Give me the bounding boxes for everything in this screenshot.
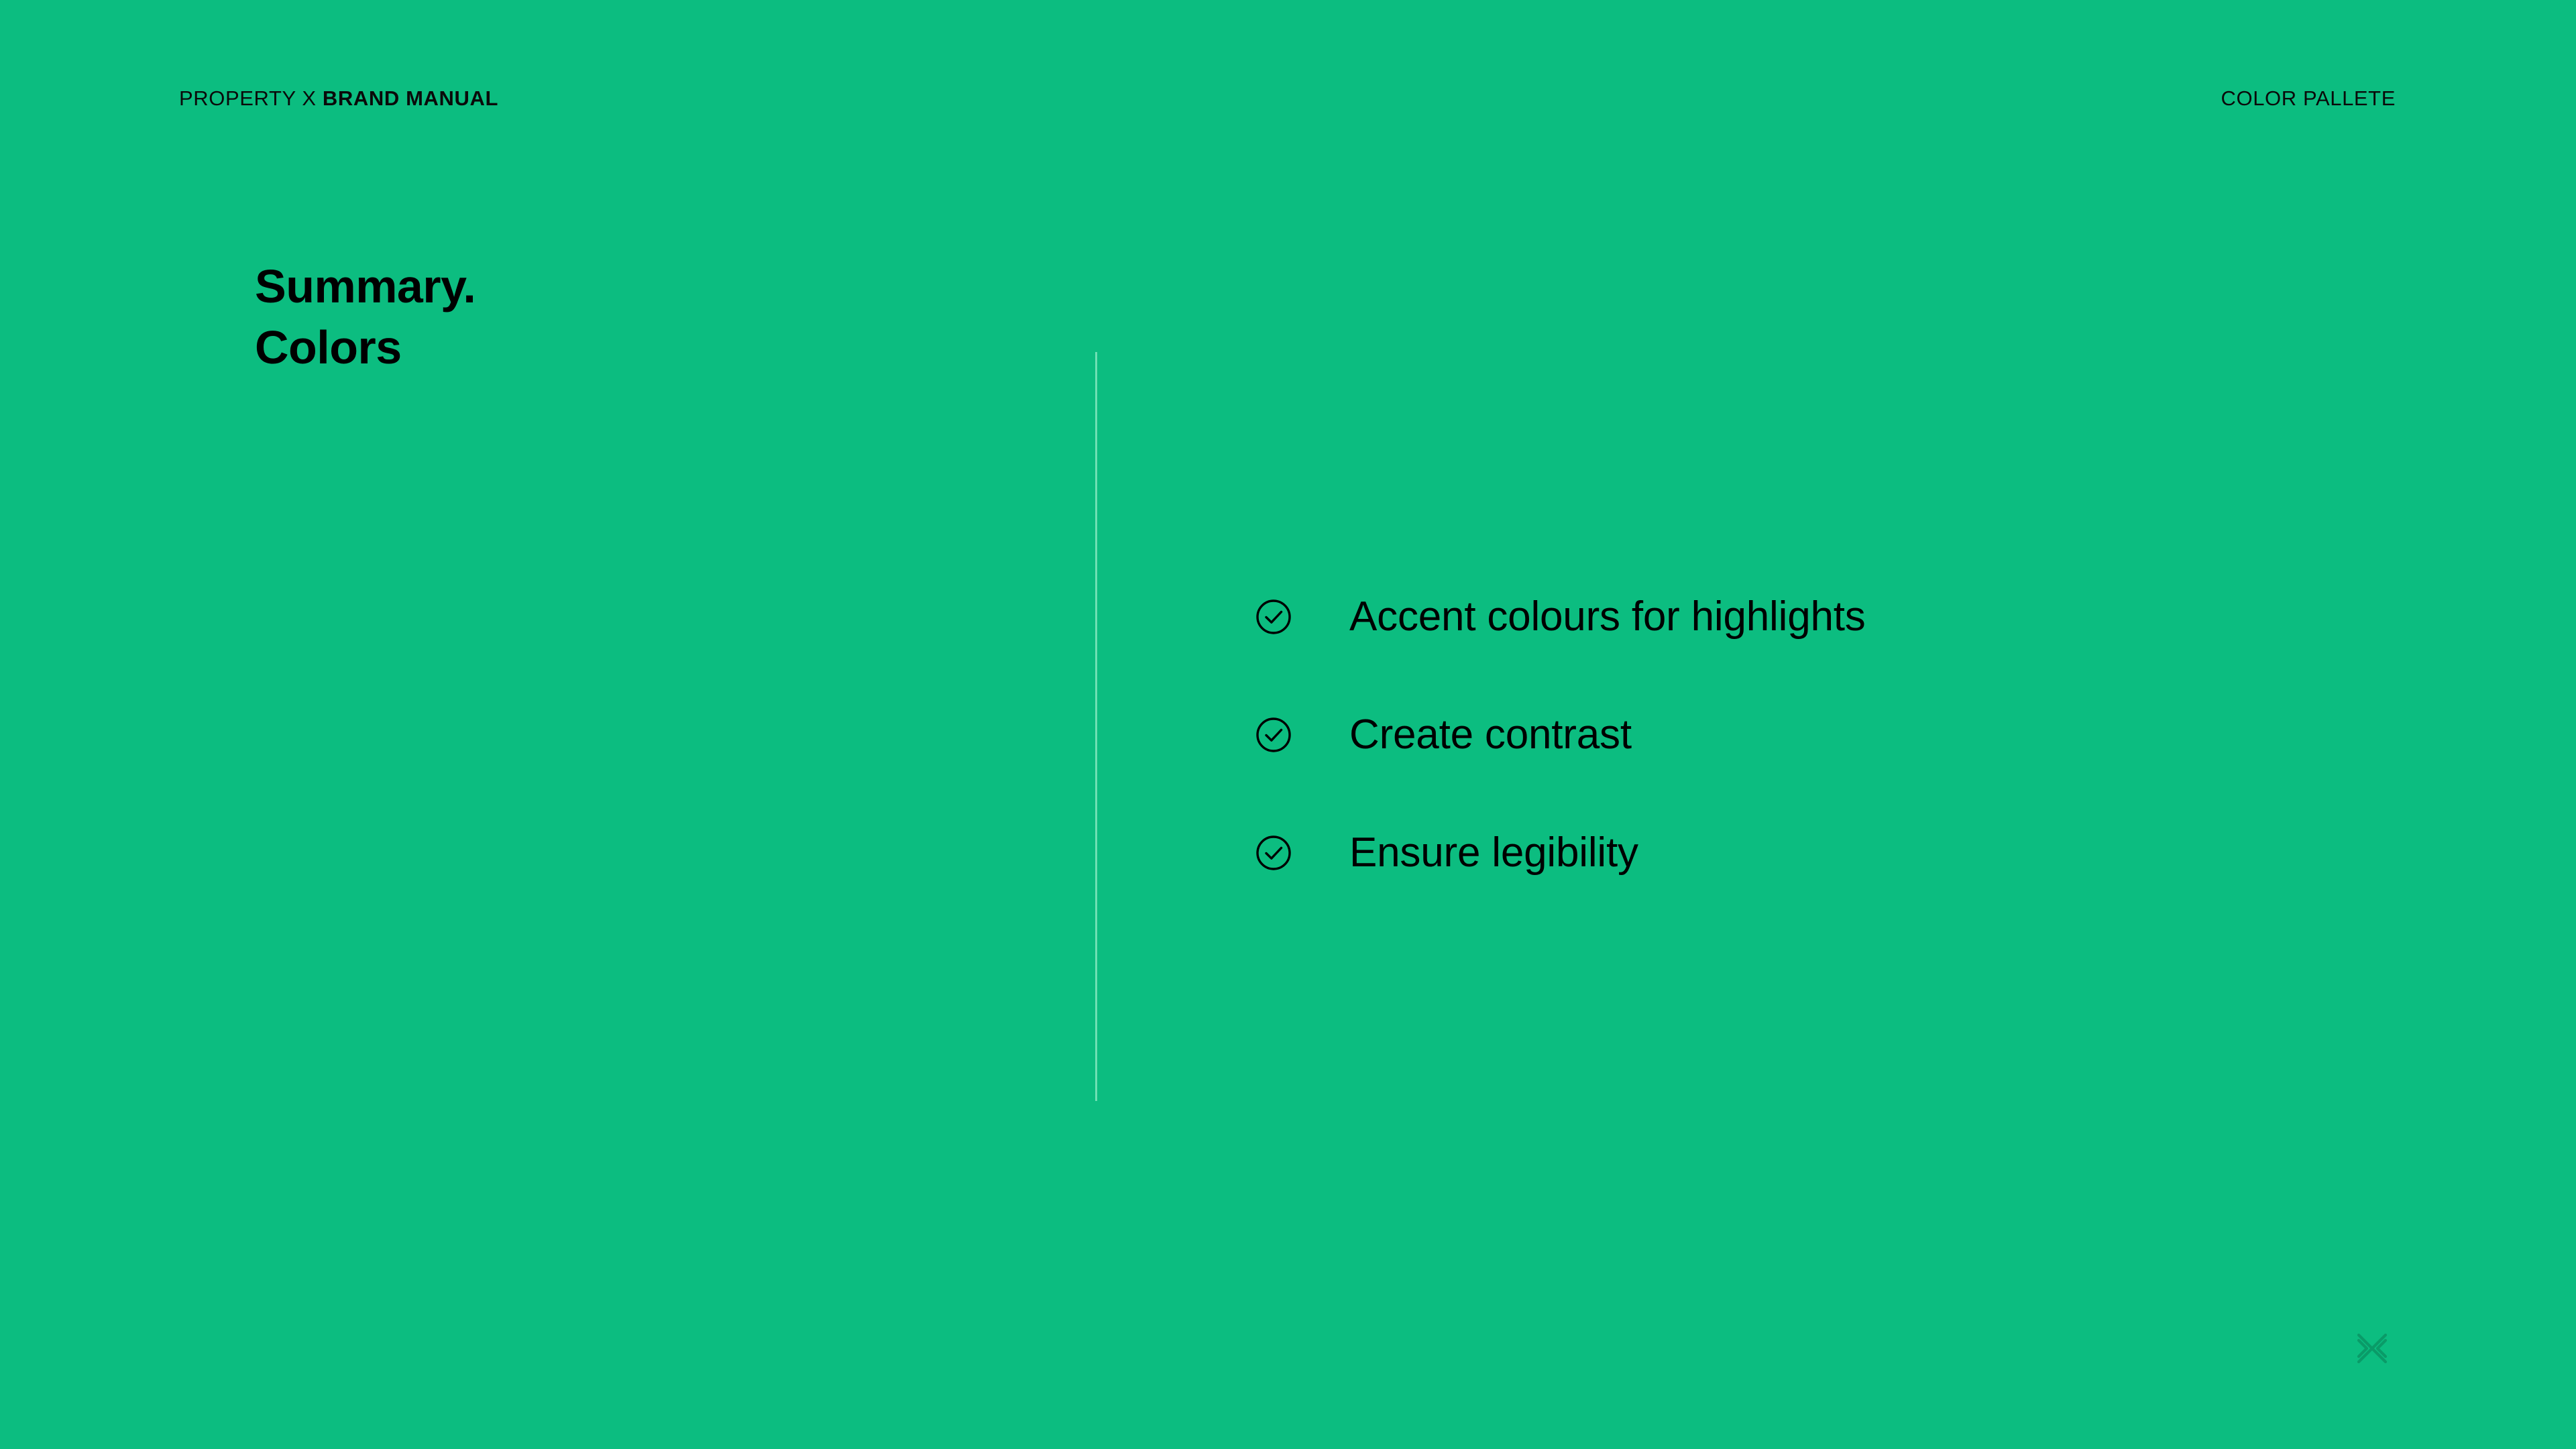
page-title-line-1: Summary. [255,256,475,317]
slide-header: PROPERTY X BRAND MANUAL COLOR PALLETE [179,87,2396,114]
summary-checklist: Accent colours for highlights Create con… [1255,587,2396,883]
header-section-label: COLOR PALLETE [2221,87,2396,110]
page-title-line-2: Colors [255,317,475,378]
list-item-label: Create contrast [1349,711,1632,758]
header-brand-label: PROPERTY X BRAND MANUAL [179,87,498,110]
check-circle-icon [1255,717,1292,753]
check-circle-icon [1255,835,1292,871]
interlocking-x-logo [2351,1328,2393,1369]
slide-canvas: PROPERTY X BRAND MANUAL COLOR PALLETE Su… [0,0,2576,1449]
page-title: Summary. Colors [255,256,475,378]
check-circle-icon [1255,599,1292,635]
list-item-label: Ensure legibility [1349,829,1638,876]
list-item: Ensure legibility [1255,823,2396,883]
list-item-label: Accent colours for highlights [1349,593,1866,640]
header-brand-manual: BRAND MANUAL [323,86,498,110]
header-brand-property: PROPERTY X [179,86,317,110]
list-item: Accent colours for highlights [1255,587,2396,647]
list-item: Create contrast [1255,705,2396,765]
vertical-divider [1095,352,1097,1101]
